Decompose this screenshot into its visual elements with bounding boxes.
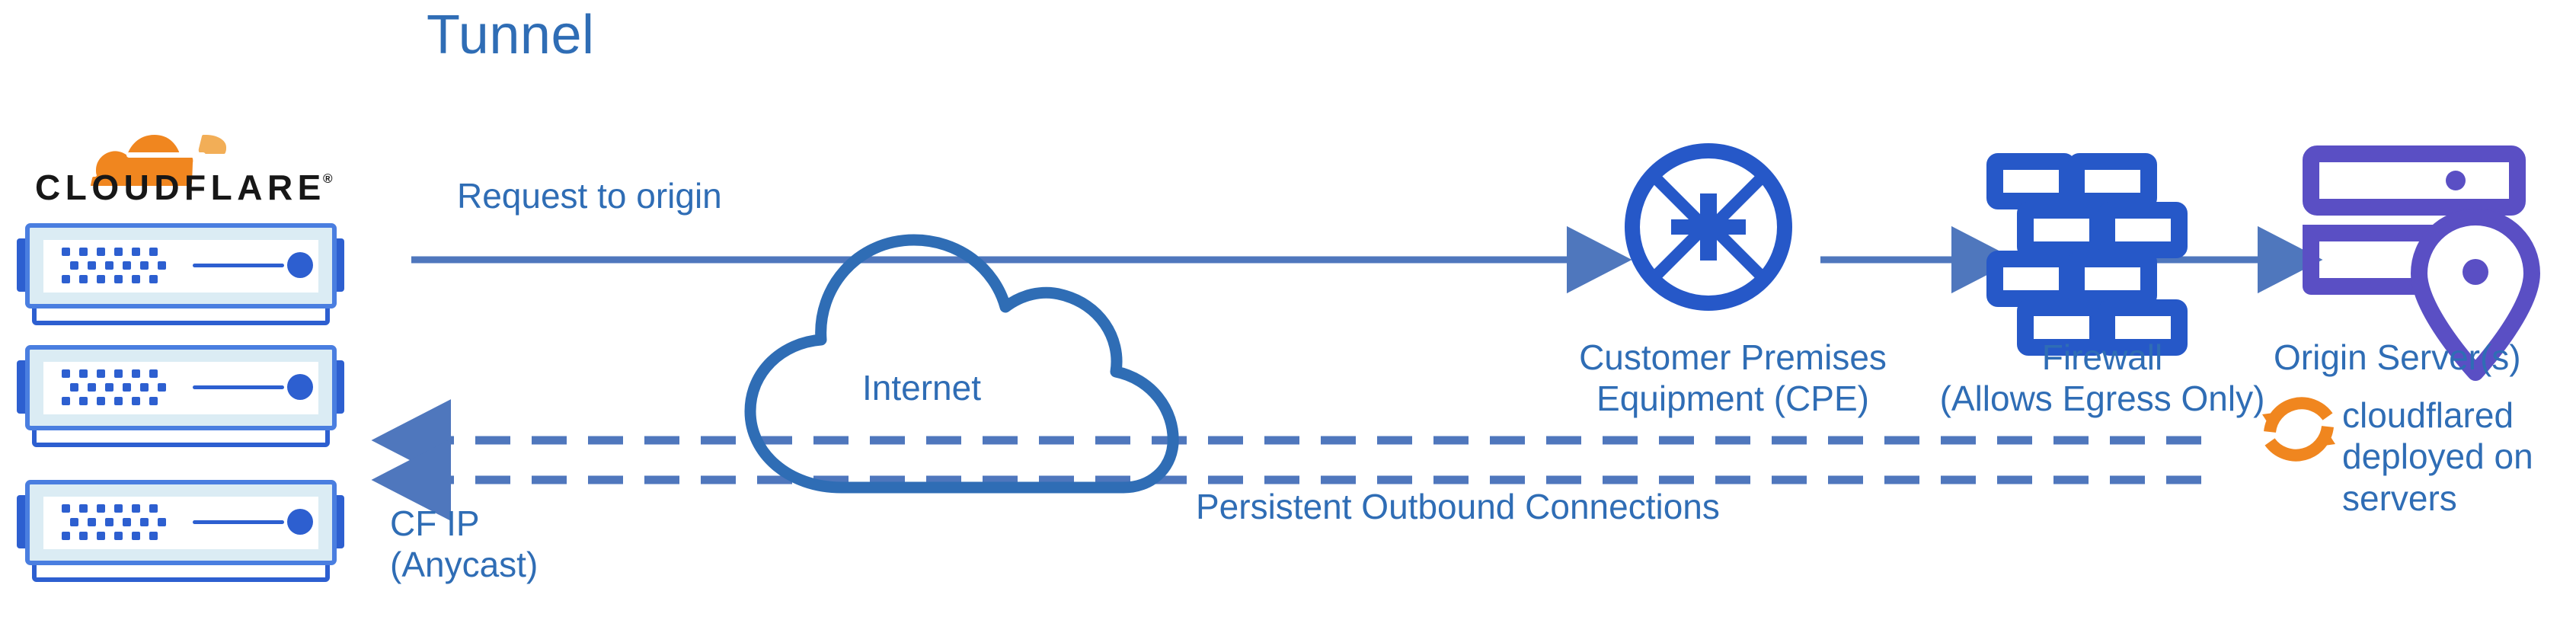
cloudflared-label-line1: cloudflared bbox=[2342, 395, 2571, 436]
cf-ip-label-line2: (Anycast) bbox=[390, 544, 538, 585]
edge-device-3 bbox=[17, 482, 344, 580]
cloudflared-label-line2: deployed on bbox=[2342, 436, 2571, 477]
cloudflare-wordmark: CLOUDFLARE ® bbox=[35, 168, 333, 207]
svg-text:®: ® bbox=[323, 171, 333, 186]
cf-ip-anycast-label: CF IP (Anycast) bbox=[390, 503, 538, 586]
router-circle-icon bbox=[1632, 151, 1785, 303]
internet-label: Internet bbox=[862, 367, 981, 408]
firewall-label-line1: Firewall bbox=[1927, 337, 2277, 378]
svg-text:CLOUDFLARE: CLOUDFLARE bbox=[35, 168, 326, 207]
brick-wall-icon bbox=[1995, 161, 2179, 347]
firewall-label-line2: (Allows Egress Only) bbox=[1927, 378, 2277, 419]
firewall-label: Firewall (Allows Egress Only) bbox=[1927, 337, 2277, 420]
request-to-origin-label: Request to origin bbox=[457, 175, 722, 216]
cpe-label-line2: Equipment (CPE) bbox=[1558, 378, 1908, 419]
cloudflared-label: cloudflared deployed on servers bbox=[2342, 395, 2571, 519]
cloudflared-label-line3: servers bbox=[2342, 478, 2571, 519]
cloud-icon bbox=[750, 240, 1173, 488]
origin-server-label: Origin Server(s) bbox=[2274, 337, 2521, 378]
tunnel-diagram: Tunnel CLOUDFLARE ® bbox=[0, 0, 2576, 617]
cf-ip-label-line1: CF IP bbox=[390, 503, 538, 544]
edge-device-2 bbox=[17, 347, 344, 445]
persistent-outbound-connections-label: Persistent Outbound Connections bbox=[1196, 486, 1720, 527]
cpe-label: Customer Premises Equipment (CPE) bbox=[1558, 337, 1908, 420]
edge-device-1 bbox=[17, 225, 344, 323]
cpe-label-line1: Customer Premises bbox=[1558, 337, 1908, 378]
